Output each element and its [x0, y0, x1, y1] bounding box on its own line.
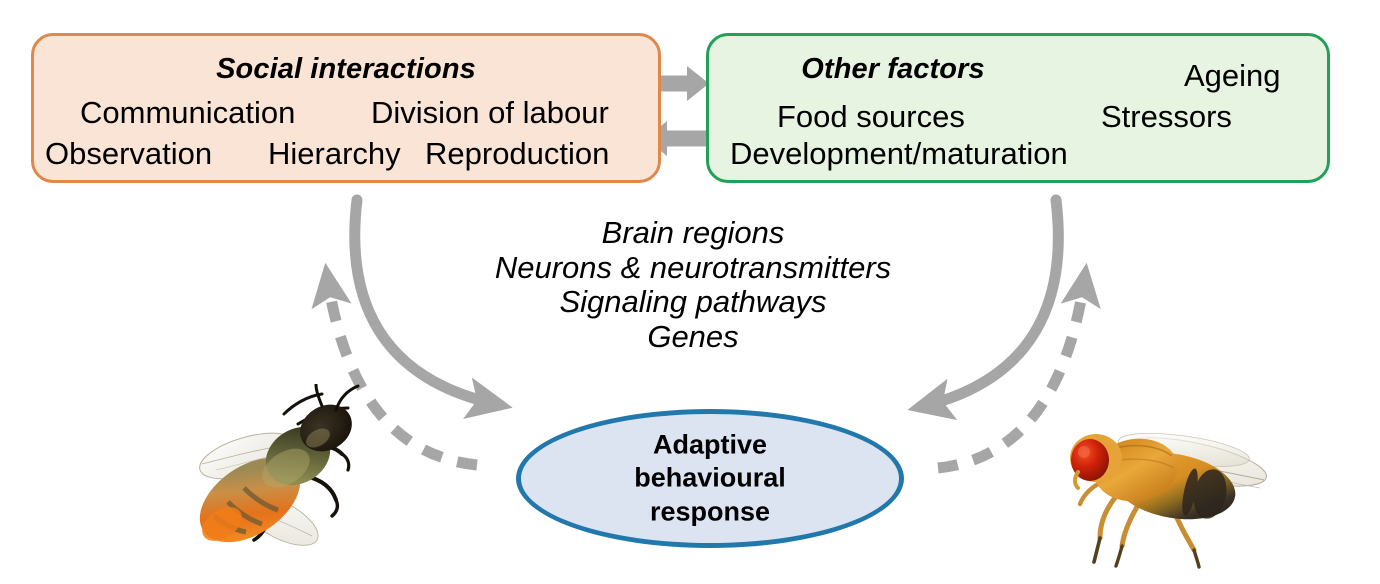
pathway-line-neurons-neurotransmitters: Neurons & neurotransmitters: [453, 251, 933, 286]
adaptive-behavioural-response-label: Adaptive behavioural response: [521, 428, 899, 529]
other-factors-title: Other factors: [709, 53, 1077, 86]
response-line-2: behavioural: [521, 462, 899, 496]
fruit-fly-photo: [1044, 410, 1280, 570]
pathway-line-brain-regions: Brain regions: [453, 216, 933, 251]
pathway-line-signaling-pathways: Signaling pathways: [453, 285, 933, 320]
term-stressors: Stressors: [1101, 101, 1232, 132]
response-line-3: response: [521, 495, 899, 529]
pathway-list: Brain regions Neurons & neurotransmitter…: [453, 216, 933, 355]
term-reproduction: Reproduction: [425, 138, 609, 169]
term-communication: Communication: [80, 97, 295, 128]
pathway-line-genes: Genes: [453, 320, 933, 355]
term-hierarchy: Hierarchy: [268, 138, 401, 169]
term-ageing: Ageing: [1184, 60, 1281, 91]
term-division-of-labour: Division of labour: [371, 97, 609, 128]
honey-bee-photo: [176, 384, 362, 564]
adaptive-behavioural-response-ellipse: Adaptive behavioural response: [516, 409, 904, 548]
social-interactions-title: Social interactions: [34, 53, 658, 86]
term-observation: Observation: [45, 138, 212, 169]
bee-antennae: [316, 384, 358, 410]
response-line-1: Adaptive: [521, 428, 899, 462]
term-development-maturation: Development/maturation: [730, 138, 1068, 169]
diagram-canvas: Social interactions Communication Divisi…: [0, 0, 1380, 584]
arrow-other-down-to-response: [920, 200, 1058, 407]
term-food-sources: Food sources: [777, 101, 965, 132]
